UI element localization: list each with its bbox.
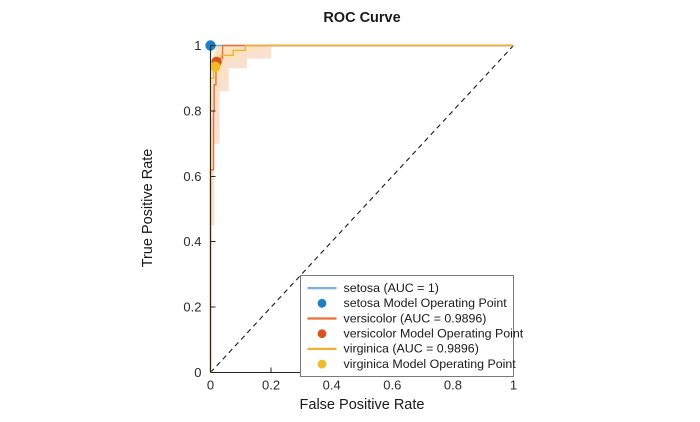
y-tick-label: 0.2 — [183, 300, 201, 315]
x-axis-label: False Positive Rate — [300, 397, 425, 413]
page-title: ROC Curve — [323, 10, 400, 26]
legend-item-setosa-point[interactable]: setosa Model Operating Point — [318, 296, 508, 310]
y-tick-label: 0.8 — [183, 103, 201, 118]
legend-dot-swatch — [318, 299, 327, 308]
legend-dot-swatch — [318, 329, 327, 338]
y-tick-label: 0 — [194, 365, 201, 380]
legend-item-virginica-point[interactable]: virginica Model Operating Point — [318, 357, 517, 371]
y-tick-label: 0.6 — [183, 169, 201, 184]
legend-dot-swatch — [318, 360, 327, 369]
legend-item-label: setosa (AUC = 1) — [344, 281, 439, 295]
operating-point-virginica[interactable] — [210, 62, 220, 72]
roc-curve-figure: ROC Curve 00.20.40.60.8100.20.40.60.81 F… — [0, 0, 700, 422]
x-tick-label: 0 — [207, 378, 214, 393]
x-tick-label: 0.8 — [444, 378, 462, 393]
legend-item-label: versicolor Model Operating Point — [344, 326, 524, 340]
y-axis-label: True Positive Rate — [140, 149, 156, 268]
legend-item-versicolor-point[interactable]: versicolor Model Operating Point — [318, 326, 524, 340]
x-tick-label: 0.2 — [262, 378, 280, 393]
legend-item-label: virginica Model Operating Point — [344, 357, 517, 371]
x-tick-label: 1 — [510, 378, 517, 393]
legend-item-label: virginica (AUC = 0.9896) — [344, 342, 479, 356]
chart-legend[interactable]: setosa (AUC = 1)setosa Model Operating P… — [301, 276, 524, 377]
legend-item-label: versicolor (AUC = 0.9896) — [344, 311, 487, 325]
y-tick-label: 1 — [194, 38, 201, 53]
legend-item-label: setosa Model Operating Point — [344, 296, 508, 310]
x-tick-label: 0.6 — [383, 378, 401, 393]
x-tick-label: 0.4 — [323, 378, 341, 393]
y-tick-label: 0.4 — [183, 234, 201, 249]
